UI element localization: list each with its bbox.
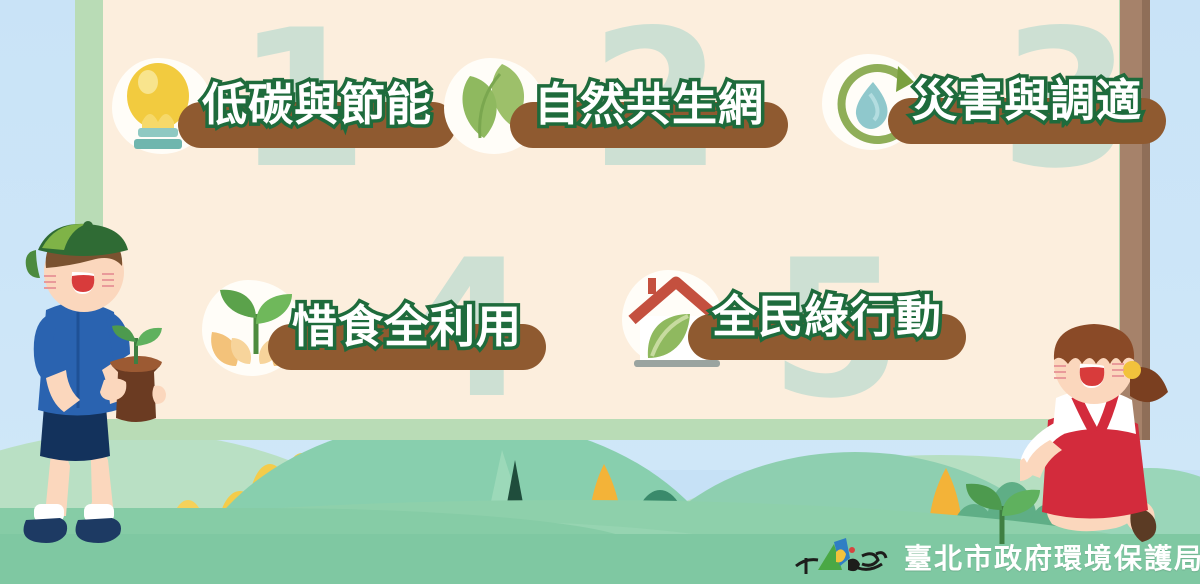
item-low-carbon[interactable]: 低碳與節能 <box>108 52 442 162</box>
item-food-saving-label: 惜食全利用 <box>282 300 532 359</box>
poster-canvas: 綠色生活 1 2 3 4 5 低碳與節能 <box>0 0 1200 584</box>
item-nature-network-label: 自然共生網 <box>524 78 774 137</box>
taipei-logo-icon <box>790 536 890 578</box>
item-green-action-label: 全民綠行動 <box>702 290 952 349</box>
item-nature-network[interactable]: 自然共生網 <box>440 52 774 162</box>
item-disaster-adaptation-label: 災害與調適 <box>902 74 1152 133</box>
organization-name: 臺北市政府環境保護局 <box>904 537 1200 577</box>
boy-holding-potted-seedling <box>6 216 206 546</box>
footer-credit: 臺北市政府環境保護局 廣告 <box>790 536 1200 578</box>
item-green-action[interactable]: 全民綠行動 <box>618 264 952 374</box>
girl-kneeling-planting <box>1020 312 1200 562</box>
item-food-saving[interactable]: 惜食全利用 <box>198 274 532 384</box>
item-green-action-label-wrap: 全民綠行動 <box>702 290 952 349</box>
item-nature-network-label-wrap: 自然共生網 <box>524 78 774 137</box>
item-disaster-adaptation-label-wrap: 災害與調適 <box>902 74 1152 133</box>
item-low-carbon-label-wrap: 低碳與節能 <box>192 78 442 137</box>
item-disaster-adaptation[interactable]: 災害與調適 <box>818 48 1152 158</box>
item-low-carbon-label: 低碳與節能 <box>192 78 442 137</box>
item-food-saving-label-wrap: 惜食全利用 <box>282 300 532 359</box>
